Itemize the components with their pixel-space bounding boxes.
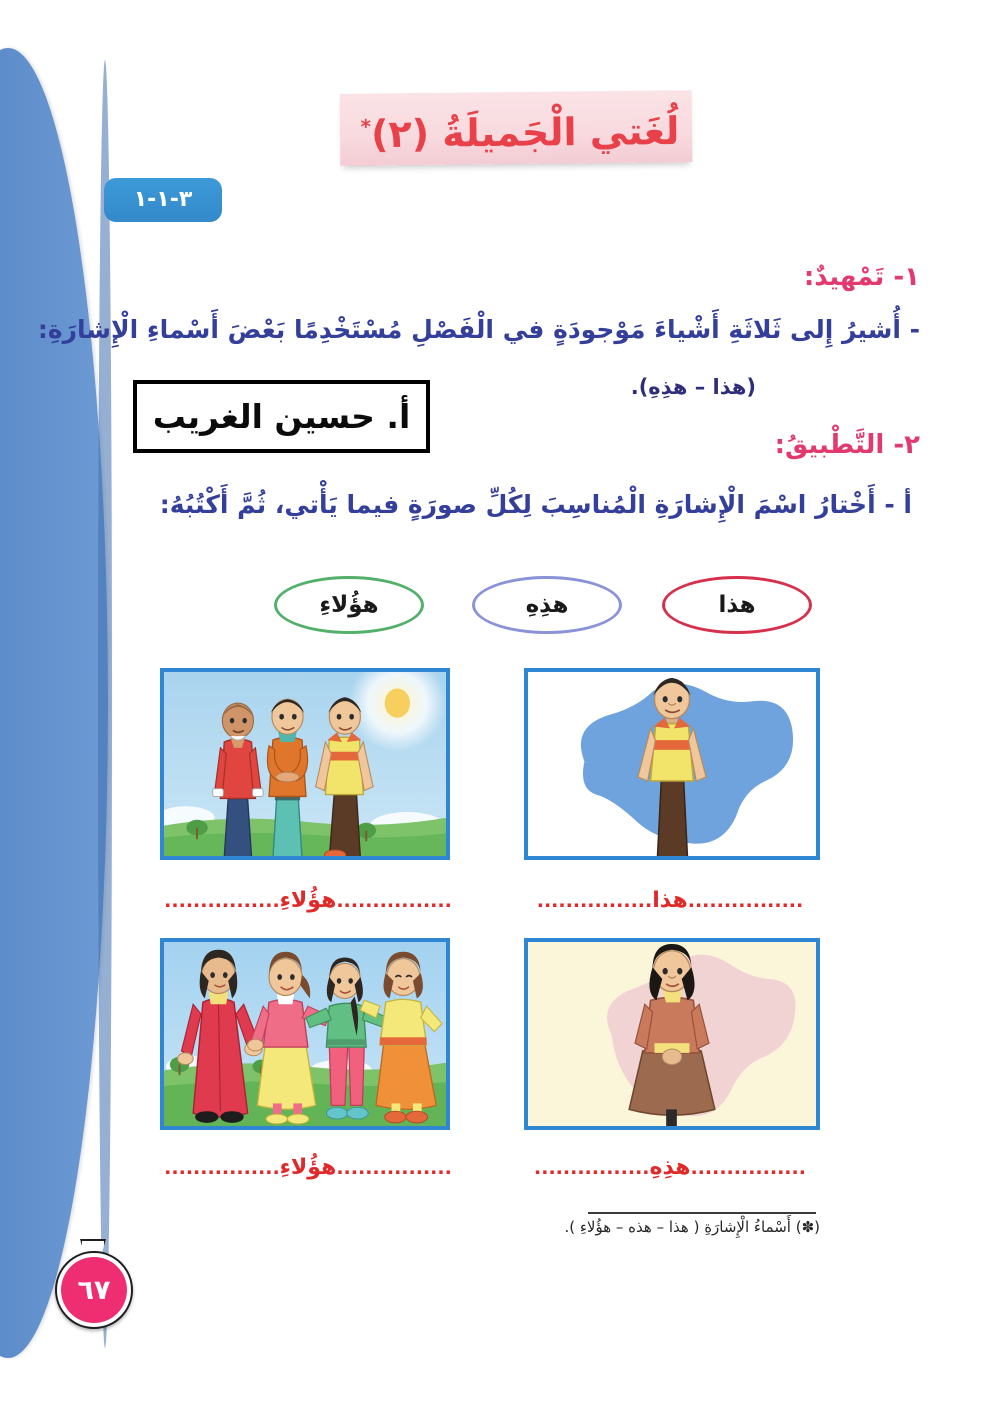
answer-dots-after-3: ................ <box>534 1157 649 1179</box>
lesson-code-badge: ٣-١-١ <box>104 178 222 222</box>
answer-line-boys[interactable]: ................هؤُلاءِ................ <box>158 888 458 913</box>
page-title: لُغَتي الْجَميلَةُ (٢)* <box>330 86 711 172</box>
three-boys-illustration <box>164 672 446 859</box>
footnote-text: (✽) أَسْماءُ الْإِشارَةِ ( هذا – هذه – ه… <box>500 1218 820 1236</box>
four-girls-illustration <box>164 942 446 1129</box>
intro-examples: (هذا – هذِهِ). <box>631 375 756 399</box>
practice-heading: ٢- التَّطْبيقُ: <box>775 430 920 460</box>
answer-line-girls[interactable]: ................هؤُلاءِ................ <box>158 1155 458 1180</box>
single-boy-illustration <box>528 672 816 859</box>
left-stripe-edge <box>98 60 112 1348</box>
answer-line-girl[interactable]: ................هذِهِ................ <box>520 1155 820 1180</box>
word-choice-hadhihi[interactable]: هذِهِ <box>472 576 622 634</box>
answer-text-boy: هذا <box>652 888 688 913</box>
page-title-text: لُغَتي الْجَميلَةُ (٢) <box>371 109 680 156</box>
picture-single-girl <box>524 938 820 1130</box>
word-choice-hadha[interactable]: هذا <box>662 576 812 634</box>
picture-three-boys <box>160 668 450 860</box>
answer-line-boy[interactable]: ................هذا................ <box>520 888 820 913</box>
answer-dots-after-4: ................ <box>164 1157 279 1179</box>
intro-instruction: - أُشيرُ إِلى ثَلاثَةِ أَشْياءَ مَوْجودَ… <box>38 315 920 344</box>
answer-dots-after-1: ................ <box>537 890 652 912</box>
answer-dots-after-2: ................ <box>164 890 279 912</box>
answer-dots-before-4: ................ <box>336 1157 451 1179</box>
teacher-name-stamp-box: أ. حسين الغريب <box>133 380 430 453</box>
single-girl-illustration <box>528 942 816 1129</box>
answer-dots-before-3: ................ <box>690 1157 805 1179</box>
answer-dots-before-2: ................ <box>336 890 451 912</box>
left-decorative-stripe <box>0 48 108 1358</box>
picture-four-girls <box>160 938 450 1130</box>
footnote-divider <box>588 1212 816 1214</box>
answer-text-boys: هؤُلاءِ <box>280 888 337 913</box>
intro-heading: ١- تَمْهيدٌ: <box>804 262 920 292</box>
answer-dots-before-1: ................ <box>688 890 803 912</box>
word-choice-haulaa[interactable]: هؤُلاءِ <box>274 576 424 634</box>
picture-single-boy <box>524 668 820 860</box>
teacher-name-text: أ. حسين الغريب <box>153 397 411 436</box>
answer-text-girls: هؤُلاءِ <box>280 1155 337 1180</box>
page-number-badge: ٦٧ <box>61 1257 127 1323</box>
practice-instruction: أ - أَخْتارُ اسْمَ الْإِشارَةِ الْمُناسِ… <box>160 490 912 519</box>
title-asterisk: * <box>360 115 371 139</box>
answer-text-girl: هذِهِ <box>650 1155 691 1180</box>
